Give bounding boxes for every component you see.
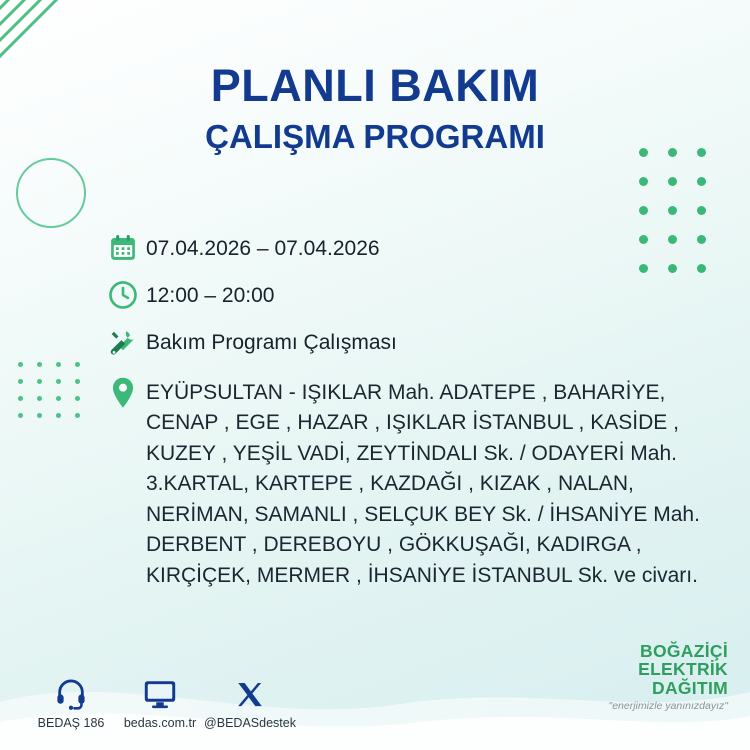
location-text: EYÜPSULTAN - IŞIKLAR Mah. ADATEPE , BAHA… — [146, 375, 726, 591]
tools-icon — [100, 326, 146, 359]
poster-canvas: PLANLI BAKIM ÇALIŞMA PROGRAMI 07 — [0, 0, 750, 750]
poster-footer: BEDAŞ 186 bedas.com.tr @BEDASdestek — [0, 652, 750, 732]
x-twitter-icon — [185, 674, 315, 710]
brand-slogan: "enerjimizle yanınızdayız" — [608, 701, 728, 712]
work-description-text: Bakım Programı Çalışması — [146, 326, 397, 357]
brand-logo: BOĞAZİÇİ ELEKTRİK DAĞITIM "enerjimizle y… — [608, 642, 728, 712]
map-pin-icon — [100, 375, 146, 410]
clock-icon — [100, 279, 146, 310]
brand-line-2: ELEKTRİK — [608, 660, 728, 679]
dot-grid-left-decoration — [18, 362, 82, 418]
footer-item-social[interactable]: @BEDASdestek — [185, 674, 315, 730]
info-row-work: Bakım Programı Çalışması — [100, 326, 740, 359]
brand-line-3: DAĞITIM — [608, 679, 728, 698]
info-row-date: 07.04.2026 – 07.04.2026 — [100, 232, 740, 263]
calendar-icon — [100, 232, 146, 263]
poster-header: PLANLI BAKIM ÇALIŞMA PROGRAMI — [0, 62, 750, 157]
page-subtitle: ÇALIŞMA PROGRAMI — [0, 117, 750, 157]
date-range-text: 07.04.2026 – 07.04.2026 — [146, 232, 380, 263]
brand-line-1: BOĞAZİÇİ — [608, 642, 728, 661]
time-range-text: 12:00 – 20:00 — [146, 279, 274, 310]
page-title: PLANLI BAKIM — [0, 62, 750, 109]
info-list: 07.04.2026 – 07.04.2026 12:00 – 20:00 — [100, 232, 740, 607]
circle-decoration — [16, 158, 86, 228]
info-row-time: 12:00 – 20:00 — [100, 279, 740, 310]
info-row-location: EYÜPSULTAN - IŞIKLAR Mah. ADATEPE , BAHA… — [100, 375, 740, 591]
footer-label-social: @BEDASdestek — [185, 716, 315, 730]
